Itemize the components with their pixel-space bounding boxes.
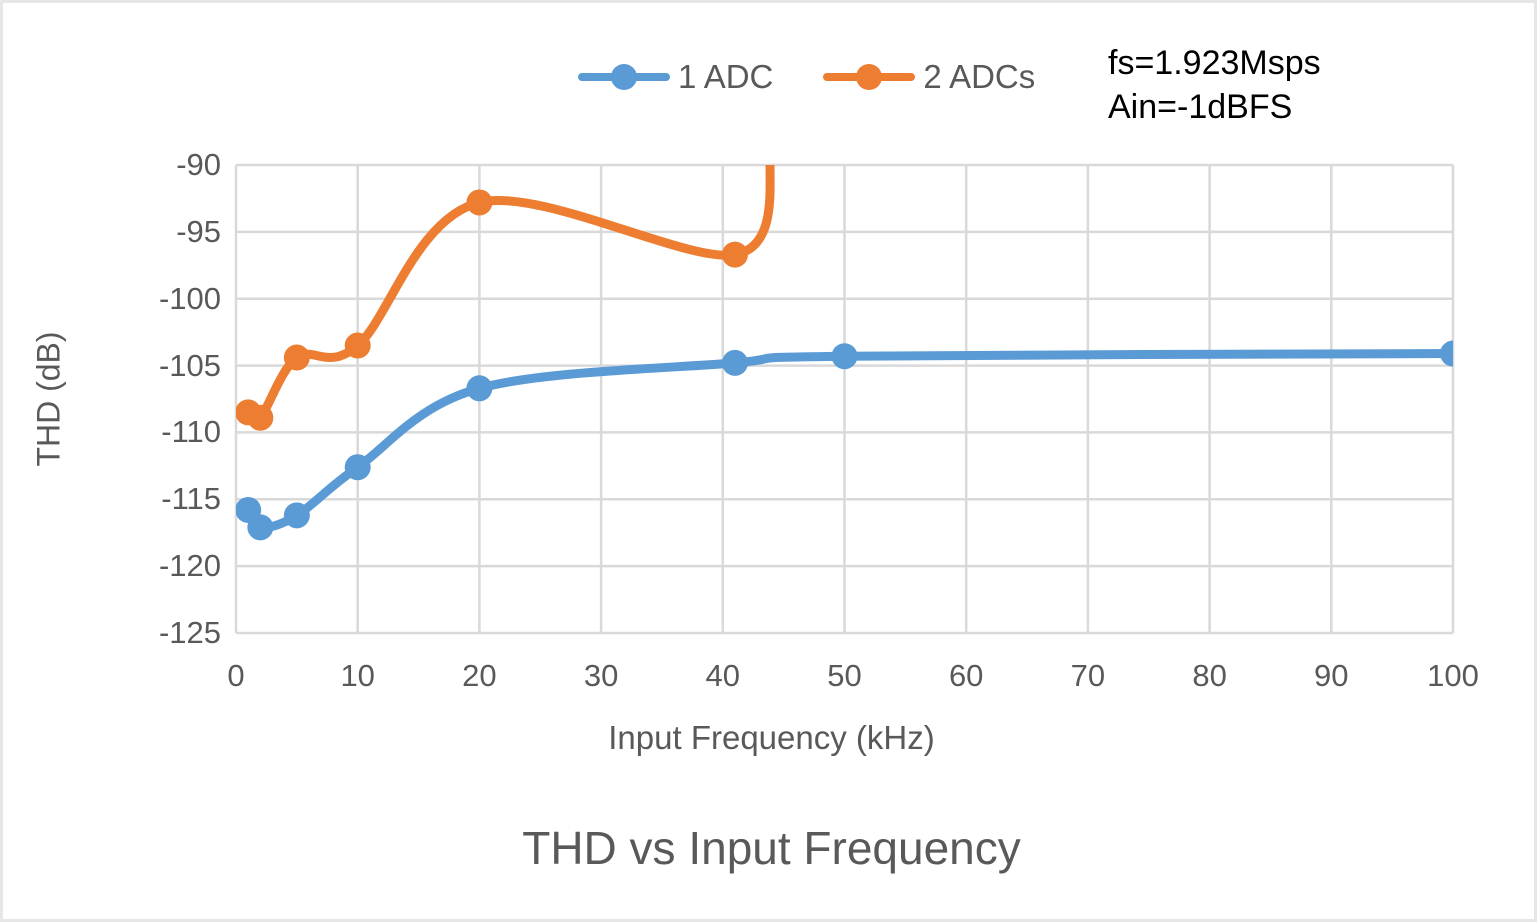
data-point (722, 242, 748, 268)
x-tick-label: 80 (1192, 658, 1226, 694)
data-point (345, 454, 371, 480)
x-axis-title: Input Frequency (kHz) (3, 719, 1537, 757)
data-point (722, 350, 748, 376)
x-tick-label: 70 (1071, 658, 1105, 694)
data-point (284, 502, 310, 528)
data-point (832, 343, 858, 369)
data-point (345, 333, 371, 359)
y-tick-label: -100 (103, 281, 221, 317)
y-tick-label: -120 (103, 548, 221, 584)
chart-page: 1 ADC 2 ADCs fs=1.923Msps Ain=-1dBFS -90… (0, 0, 1537, 922)
data-point (466, 375, 492, 401)
gridlines (236, 165, 1453, 633)
data-point (247, 514, 273, 540)
data-series (235, 152, 1466, 541)
x-axis-ticks: 0102030405060708090100 (3, 658, 1537, 708)
y-tick-label: -110 (103, 414, 221, 450)
y-tick-label: -125 (103, 615, 221, 651)
plot-area (3, 3, 1537, 922)
x-tick-label: 90 (1314, 658, 1348, 694)
y-tick-label: -90 (103, 147, 221, 183)
x-tick-label: 20 (462, 658, 496, 694)
x-tick-label: 50 (827, 658, 861, 694)
data-point (284, 345, 310, 371)
y-axis-title: THD (dB) (31, 331, 68, 466)
y-tick-label: -105 (103, 348, 221, 384)
data-point (247, 405, 273, 431)
x-tick-label: 40 (706, 658, 740, 694)
x-tick-label: 30 (584, 658, 618, 694)
x-tick-label: 60 (949, 658, 983, 694)
data-point (466, 189, 492, 215)
y-tick-label: -95 (103, 214, 221, 250)
x-tick-label: 100 (1427, 658, 1479, 694)
series-1 (235, 341, 1466, 541)
series-2 (235, 152, 771, 431)
y-tick-label: -115 (103, 481, 221, 517)
y-axis-ticks: -90-95-100-105-110-115-120-125 (103, 3, 221, 922)
x-tick-label: 10 (340, 658, 374, 694)
x-tick-label: 0 (227, 658, 244, 694)
data-point (1440, 341, 1466, 367)
chart-title: THD vs Input Frequency (3, 821, 1537, 875)
plot-svg (3, 3, 1537, 922)
